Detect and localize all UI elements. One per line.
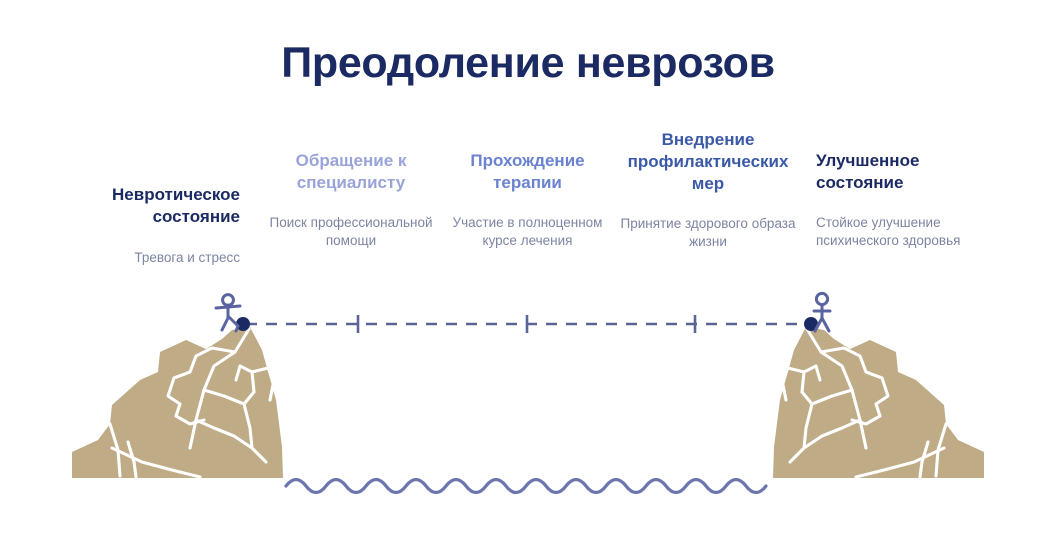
stage-description-specialist-referral: Поиск профессиональной помощи (267, 214, 435, 250)
stage-heading-preventive-measures: Внедрение профилактических мер (614, 129, 802, 194)
stage-heading-improved-state: Улучшенное состояние (816, 150, 1006, 194)
stage-heading-therapy: Прохождение терапии (446, 150, 609, 194)
path-end-marker (804, 317, 818, 331)
stage-description-therapy: Участие в полноценном курсе лечения (446, 214, 609, 250)
wavy-water-line (286, 480, 766, 493)
walking-stick-figure (216, 295, 240, 331)
stage-heading-specialist-referral: Обращение к специалисту (267, 150, 435, 194)
standing-stick-figure (814, 293, 830, 331)
stage-description-neurotic-state: Тревога и стресс (58, 249, 240, 267)
stage-column-preventive-measures: Внедрение профилактических мер Принятие … (614, 126, 802, 252)
stage-description-preventive-measures: Принятие здорового образа жизни (614, 215, 802, 251)
stage-heading-neurotic-state: Невротическое состояние (58, 184, 240, 228)
stage-description-improved-state: Стойкое улучшение психического здоровья (816, 214, 1006, 250)
dashed-journey-path (236, 315, 818, 333)
left-mountain-cliff (72, 327, 283, 478)
stage-column-specialist-referral: Обращение к специалисту Поиск профессион… (267, 126, 435, 250)
stage-column-neurotic-state: Невротическое состояние Тревога и стресс (58, 126, 240, 267)
infographic-canvas: Преодоление неврозов Невротическое состо… (0, 0, 1056, 540)
stage-columns: Невротическое состояние Тревога и стресс… (0, 126, 1056, 286)
page-title: Преодоление неврозов (0, 40, 1056, 87)
stage-column-therapy: Прохождение терапии Участие в полноценно… (446, 126, 609, 250)
stage-column-improved-state: Улучшенное состояние Стойкое улучшение п… (816, 126, 1006, 250)
path-start-marker (236, 317, 250, 331)
right-mountain-cliff (773, 327, 984, 478)
